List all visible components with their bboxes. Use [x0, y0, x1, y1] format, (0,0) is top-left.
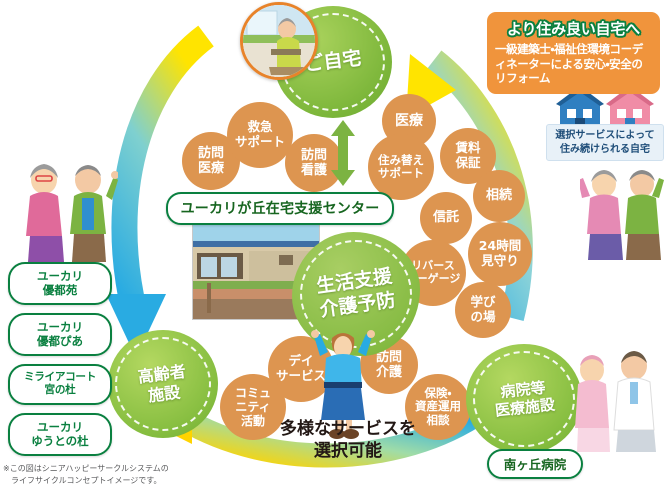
elderly-couple-illustration-left — [18, 158, 118, 266]
service-bubble[interactable]: 24時間見守り — [468, 222, 532, 286]
service-bubble-label: 医療 — [395, 113, 423, 129]
reform-banner-title: より住み良い自宅へ — [495, 18, 652, 39]
service-bubble[interactable]: 学びの場 — [455, 282, 511, 338]
service-bubble-label: 24時間見守り — [479, 239, 521, 268]
service-bubble-label: 救急サポート — [235, 120, 285, 149]
service-bubble-label: 住み替えサポート — [378, 154, 424, 181]
service-bubble-label: 訪問医療 — [198, 146, 224, 176]
service-bubble-label: 賃料保証 — [455, 141, 480, 170]
service-bubble-label: 信託 — [433, 210, 459, 225]
facility-button[interactable]: ユーカリゆうとの杜 — [8, 413, 112, 456]
facility-button[interactable]: ユーカリ優都ぴあ — [8, 313, 112, 356]
service-bubble-label: 訪問介護 — [376, 350, 402, 380]
service-bubble[interactable]: 信託 — [420, 192, 472, 244]
service-bubble-label: 相続 — [486, 188, 512, 203]
service-bubble[interactable]: 住み替えサポート — [368, 134, 434, 200]
service-bubble-label: 訪問看護 — [301, 148, 327, 178]
bottom-caption: 多様なサービスを選択可能 — [258, 418, 438, 462]
node-hospital: 病院等医療施設 — [466, 344, 582, 454]
reform-banner: より住み良い自宅へ 一級建築士・福祉住環境コーディネーターによる安心・安全のリフ… — [487, 12, 660, 94]
facility-button[interactable]: ミライアコート宮の杜 — [8, 364, 112, 405]
service-bubble-label: 学びの場 — [470, 295, 495, 324]
service-bubble[interactable]: 救急サポート — [227, 102, 293, 168]
house-caption: 選択サービスによって住み続けられる自宅 — [546, 124, 664, 161]
elderly-couple-illustration-right — [580, 164, 664, 264]
facility-button-list: ユーカリ優都苑ユーカリ優都ぴあミライアコート宮の杜ユーカリゆうとの杜 — [8, 262, 112, 464]
bidirectional-arrow-icon — [330, 120, 356, 186]
reform-banner-body: 一級建築士・福祉住環境コーディネーターによる安心・安全のリフォーム — [495, 42, 652, 86]
home-photo — [240, 2, 318, 80]
facility-button[interactable]: ユーカリ優都苑 — [8, 262, 112, 305]
support-center-pill[interactable]: ユーカリが丘在宅支援センター — [166, 192, 394, 225]
service-bubble[interactable]: 相続 — [473, 170, 525, 222]
node-senior-facility: 高齢者施設 — [108, 330, 218, 438]
hospital-pill[interactable]: 南ヶ丘病院 — [487, 449, 583, 479]
medical-staff-illustration — [572, 346, 664, 456]
